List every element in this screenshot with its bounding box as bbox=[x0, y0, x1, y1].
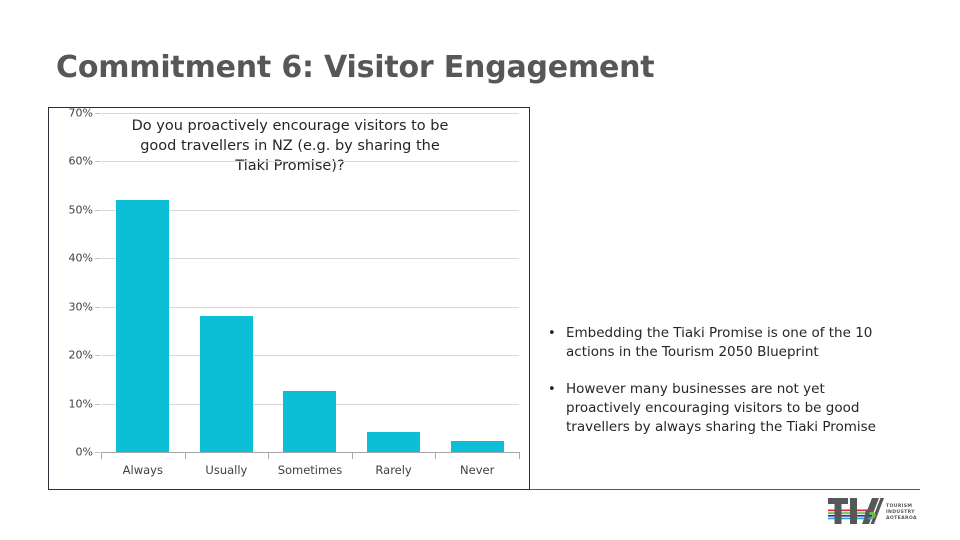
bar-slot bbox=[352, 113, 436, 452]
bar-slot bbox=[435, 113, 519, 452]
bar-slot bbox=[101, 113, 185, 452]
y-axis-tick-label: 50% bbox=[69, 203, 93, 216]
bullet-marker-icon: • bbox=[548, 380, 566, 437]
bar-always[interactable] bbox=[116, 200, 169, 452]
x-axis-tick-mark bbox=[519, 452, 520, 459]
y-axis-tick-mark bbox=[95, 404, 100, 405]
bar-rarely[interactable] bbox=[367, 432, 420, 452]
bar-slot bbox=[185, 113, 269, 452]
bar-never[interactable] bbox=[451, 441, 504, 452]
tia-logo-wordmark: TOURISM INDUSTRY AOTEAROA bbox=[886, 504, 917, 523]
bullet-item: •Embedding the Tiaki Promise is one of t… bbox=[548, 324, 878, 362]
bullet-text: Embedding the Tiaki Promise is one of th… bbox=[566, 324, 878, 362]
y-axis-tick-mark bbox=[95, 258, 100, 259]
bullet-list: •Embedding the Tiaki Promise is one of t… bbox=[548, 324, 878, 455]
y-axis-tick-label: 30% bbox=[69, 300, 93, 313]
bullet-item: •However many businesses are not yet pro… bbox=[548, 380, 878, 437]
x-axis-label-always: Always bbox=[101, 455, 185, 477]
y-axis-tick-mark bbox=[95, 452, 100, 453]
tia-logo-mark bbox=[828, 498, 884, 524]
bar-slot bbox=[268, 113, 352, 452]
y-axis-tick-mark bbox=[95, 210, 100, 211]
bullet-marker-icon: • bbox=[548, 324, 566, 362]
x-axis-labels: AlwaysUsuallySometimesRarelyNever bbox=[101, 455, 519, 477]
page-title: Commitment 6: Visitor Engagement bbox=[56, 50, 654, 85]
y-axis-tick-label: 10% bbox=[69, 397, 93, 410]
tia-logo-word-3: AOTEAROA bbox=[886, 516, 917, 522]
x-axis-label-usually: Usually bbox=[185, 455, 269, 477]
bar-usually[interactable] bbox=[200, 316, 253, 452]
plot-area: 0%10%20%30%40%50%60%70% bbox=[101, 113, 519, 452]
y-axis-tick-label: 0% bbox=[76, 446, 93, 459]
y-axis-tick-label: 40% bbox=[69, 252, 93, 265]
y-axis-tick-label: 60% bbox=[69, 155, 93, 168]
bar-sometimes[interactable] bbox=[283, 391, 336, 452]
y-axis-tick-mark bbox=[95, 113, 100, 114]
x-axis-label-sometimes: Sometimes bbox=[268, 455, 352, 477]
x-axis-label-never: Never bbox=[435, 455, 519, 477]
y-axis-tick-label: 70% bbox=[69, 107, 93, 120]
y-axis-tick-mark bbox=[95, 307, 100, 308]
footer-divider bbox=[530, 489, 920, 490]
y-axis-tick-label: 20% bbox=[69, 349, 93, 362]
y-axis-tick-mark bbox=[95, 161, 100, 162]
chart-container: Do you proactively encourage visitors to… bbox=[48, 107, 530, 490]
bullet-text: However many businesses are not yet proa… bbox=[566, 380, 878, 437]
y-axis-tick-mark bbox=[95, 355, 100, 356]
bar-series bbox=[101, 113, 519, 452]
tia-logo: TOURISM INDUSTRY AOTEAROA bbox=[828, 498, 934, 531]
x-axis-label-rarely: Rarely bbox=[352, 455, 436, 477]
